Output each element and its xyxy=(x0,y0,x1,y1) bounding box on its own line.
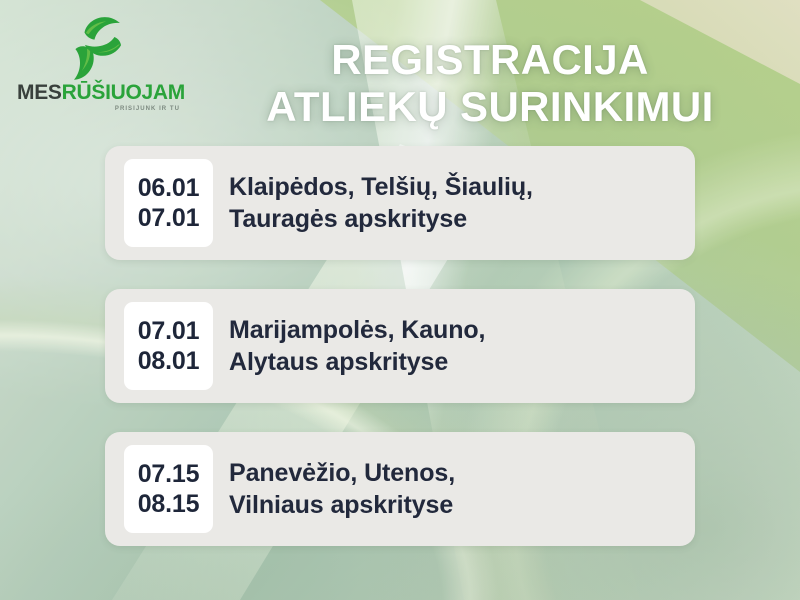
poster-canvas: MESRŪŠIUOJAM PRISIJUNK IR TU REGISTRACIJ… xyxy=(0,0,800,600)
logo-word-rusiuojam: RŪŠIUOJAM xyxy=(62,81,185,104)
logo-tagline: PRISIJUNK IR TU xyxy=(115,106,180,112)
schedule-card-regions-line-1: Klaipėdos, Telšių, Šiaulių, xyxy=(229,171,681,203)
schedule-card-regions: Marijampolės, Kauno, Alytaus apskrityse xyxy=(213,314,695,378)
schedule-card-regions: Panevėžio, Utenos, Vilniaus apskrityse xyxy=(213,457,695,521)
schedule-card-regions-line-1: Panevėžio, Utenos, xyxy=(229,457,681,489)
schedule-card: 06.01 07.01 Klaipėdos, Telšių, Šiaulių, … xyxy=(105,146,695,260)
schedule-card-date-end: 08.15 xyxy=(138,489,200,520)
three-green-leaves-recycling-icon xyxy=(64,8,138,80)
schedule-card: 07.15 08.15 Panevėžio, Utenos, Vilniaus … xyxy=(105,432,695,546)
schedule-card-date-end: 08.01 xyxy=(138,346,200,377)
logo-wordmark: MESRŪŠIUOJAM xyxy=(17,82,185,103)
schedule-card-date-start: 07.15 xyxy=(138,459,200,490)
schedule-card-regions-line-2: Tauragės apskrityse xyxy=(229,203,681,235)
brand-logo: MESRŪŠIUOJAM PRISIJUNK IR TU xyxy=(12,8,190,112)
schedule-card-date-start: 06.01 xyxy=(138,173,200,204)
schedule-card-date-range: 07.01 08.01 xyxy=(124,302,213,390)
schedule-card-date-range: 07.15 08.15 xyxy=(124,445,213,533)
schedule-card-date-start: 07.01 xyxy=(138,316,200,347)
page-title: REGISTRACIJA ATLIEKŲ SURINKIMUI xyxy=(190,36,790,130)
logo-word-mes: MES xyxy=(17,81,62,104)
schedule-card-date-end: 07.01 xyxy=(138,203,200,234)
schedule-card: 07.01 08.01 Marijampolės, Kauno, Alytaus… xyxy=(105,289,695,403)
schedule-card-regions-line-2: Alytaus apskrityse xyxy=(229,346,681,378)
schedule-card-regions-line-1: Marijampolės, Kauno, xyxy=(229,314,681,346)
schedule-card-regions: Klaipėdos, Telšių, Šiaulių, Tauragės aps… xyxy=(213,171,695,235)
page-title-line-2: ATLIEKŲ SURINKIMUI xyxy=(190,83,790,130)
schedule-card-date-range: 06.01 07.01 xyxy=(124,159,213,247)
page-title-line-1: REGISTRACIJA xyxy=(190,36,790,83)
collection-schedule-list: 06.01 07.01 Klaipėdos, Telšių, Šiaulių, … xyxy=(105,146,695,546)
schedule-card-regions-line-2: Vilniaus apskrityse xyxy=(229,489,681,521)
